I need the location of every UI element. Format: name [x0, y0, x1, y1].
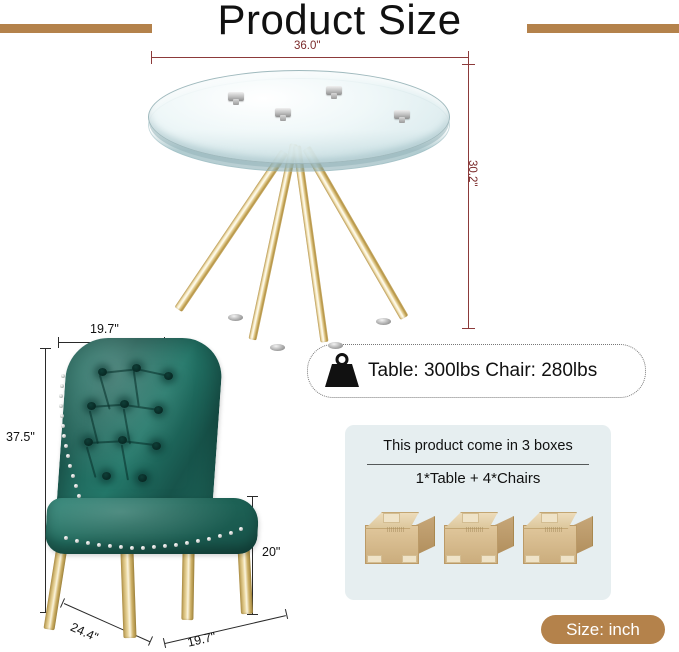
table-width-tick-right — [468, 51, 469, 64]
nailhead-trim — [64, 536, 68, 540]
tuft-button — [132, 364, 141, 372]
weight-capacity-text: Table: 300lbs Chair: 280lbs — [368, 360, 597, 382]
tuft-button — [164, 372, 173, 380]
nailhead-trim — [119, 545, 123, 549]
box-label — [545, 527, 563, 532]
nailhead-trim — [59, 394, 63, 398]
cardboard-box-icon — [440, 503, 514, 565]
chair-seat-height-label: 20" — [262, 545, 280, 559]
box-tape-left — [446, 555, 461, 563]
packaging-line-2: 1*Table + 4*Chairs — [345, 470, 611, 487]
table-height-tick-top — [462, 64, 475, 65]
nailhead-trim — [62, 434, 66, 438]
box-tape-top — [541, 513, 558, 523]
nailhead-trim — [163, 544, 167, 548]
nailhead-trim — [71, 474, 75, 478]
nailhead-trim — [152, 545, 156, 549]
table-bracket — [326, 86, 342, 95]
nailhead-trim — [108, 544, 112, 548]
nailhead-trim — [86, 541, 90, 545]
nailhead-trim — [64, 444, 68, 448]
nailhead-trim — [174, 543, 178, 547]
nailhead-trim — [60, 414, 64, 418]
table-bracket — [228, 92, 244, 101]
nailhead-trim — [239, 527, 243, 531]
chair-bottom-width-label: 19.7" — [186, 630, 217, 650]
box-tape-right — [402, 555, 417, 563]
weight-icon — [320, 352, 364, 390]
tuft-button — [87, 402, 96, 410]
tuft-button — [154, 406, 163, 414]
nailhead-trim — [75, 539, 79, 543]
nailhead-trim — [130, 546, 134, 550]
chair-leg — [121, 552, 137, 638]
tuft-button — [152, 442, 161, 450]
nailhead-trim — [59, 404, 63, 408]
packaging-line-1: This product come in 3 boxes — [345, 438, 611, 454]
table-height-line — [468, 64, 469, 329]
nailhead-trim — [229, 531, 233, 535]
cardboard-box-icon — [519, 503, 593, 565]
box-tape-right — [560, 555, 575, 563]
packaging-panel: This product come in 3 boxes 1*Table + 4… — [345, 425, 611, 600]
box-tape-left — [367, 555, 382, 563]
table-width-label: 36.0" — [294, 40, 320, 52]
tuft-button — [138, 474, 147, 482]
nailhead-trim — [74, 484, 78, 488]
tuft-button — [98, 368, 107, 376]
nailhead-trim — [68, 464, 72, 468]
table-bracket — [394, 110, 410, 119]
tuft-button — [118, 436, 127, 444]
nailhead-trim — [207, 537, 211, 541]
nailhead-trim — [185, 541, 189, 545]
chair-top-width-label: 19.7" — [90, 322, 119, 336]
chair-height-line — [45, 348, 46, 613]
table-width-line — [151, 57, 469, 58]
box-label — [466, 527, 484, 532]
table-foot — [228, 314, 243, 321]
table-width-tick-left — [151, 51, 152, 64]
nailhead-trim — [77, 494, 81, 498]
box-tape-right — [481, 555, 496, 563]
box-tape-left — [525, 555, 540, 563]
packaging-divider — [367, 464, 589, 465]
nailhead-trim — [61, 374, 65, 378]
chair-seat-height-tick-bottom — [247, 614, 258, 615]
chair-height-label: 37.5" — [6, 430, 35, 444]
tuft-button — [120, 400, 129, 408]
box-tape-top — [383, 513, 400, 523]
weight-capacity-card: Table: 300lbs Chair: 280lbs — [307, 344, 646, 398]
nailhead-trim — [196, 539, 200, 543]
box-label — [387, 527, 405, 532]
size-unit-badge: Size: inch — [541, 615, 665, 644]
product-size-infographic: Product Size 36.0" 30.2" — [0, 0, 679, 652]
chair-top-width-tick-left — [58, 337, 59, 348]
cardboard-box-icon — [361, 503, 435, 565]
nailhead-trim — [66, 454, 70, 458]
nailhead-trim — [61, 424, 65, 428]
nailhead-trim — [218, 534, 222, 538]
chair-depth-tick-end — [148, 636, 153, 646]
packaging-box-row — [353, 503, 603, 573]
tuft-button — [102, 472, 111, 480]
chair-leg — [181, 548, 194, 620]
table-foot — [328, 342, 343, 349]
table-foot — [376, 318, 391, 325]
nailhead-trim — [141, 546, 145, 550]
table-foot — [270, 344, 285, 351]
chair-leg — [43, 546, 67, 631]
chair-seat-height-tick-top — [247, 496, 258, 497]
table-height-label: 30.2" — [466, 160, 478, 186]
dining-table-illustration — [130, 60, 470, 330]
nailhead-trim — [97, 543, 101, 547]
table-bracket — [275, 108, 291, 117]
box-tape-top — [462, 513, 479, 523]
tuft-button — [84, 438, 93, 446]
chair-height-tick-top — [40, 348, 51, 349]
table-height-tick-bottom — [462, 328, 475, 329]
page-title: Product Size — [0, 0, 679, 43]
nailhead-trim — [60, 384, 64, 388]
